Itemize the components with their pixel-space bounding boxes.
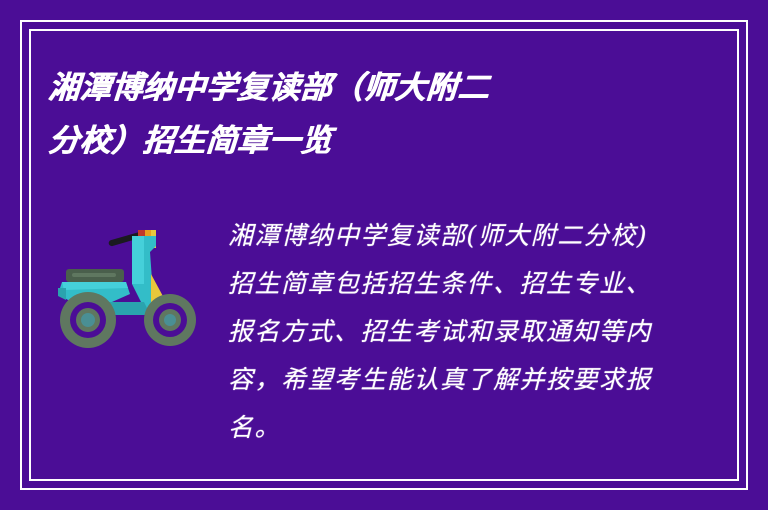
page-title-line-1: 湘潭博纳中学复读部（师大附二 [46, 62, 610, 115]
scooter-seat [66, 269, 124, 282]
body-paragraph: 湘潭博纳中学复读部(师大附二分校)招生简章包括招生条件、招生专业、报名方式、招生… [228, 212, 670, 452]
page-title-line-2: 分校）招生简章一览 [46, 115, 610, 168]
scooter-illustration [52, 222, 212, 367]
scooter-rear-wheel [60, 292, 116, 348]
poster-canvas: 湘潭博纳中学复读部（师大附二 分校）招生简章一览 [0, 0, 768, 510]
body-description: 湘潭博纳中学复读部(师大附二分校)招生简章包括招生条件、招生专业、报名方式、招生… [228, 212, 670, 452]
scooter-front-wheel [144, 294, 196, 346]
page-title: 湘潭博纳中学复读部（师大附二 分校）招生简章一览 [48, 62, 608, 168]
